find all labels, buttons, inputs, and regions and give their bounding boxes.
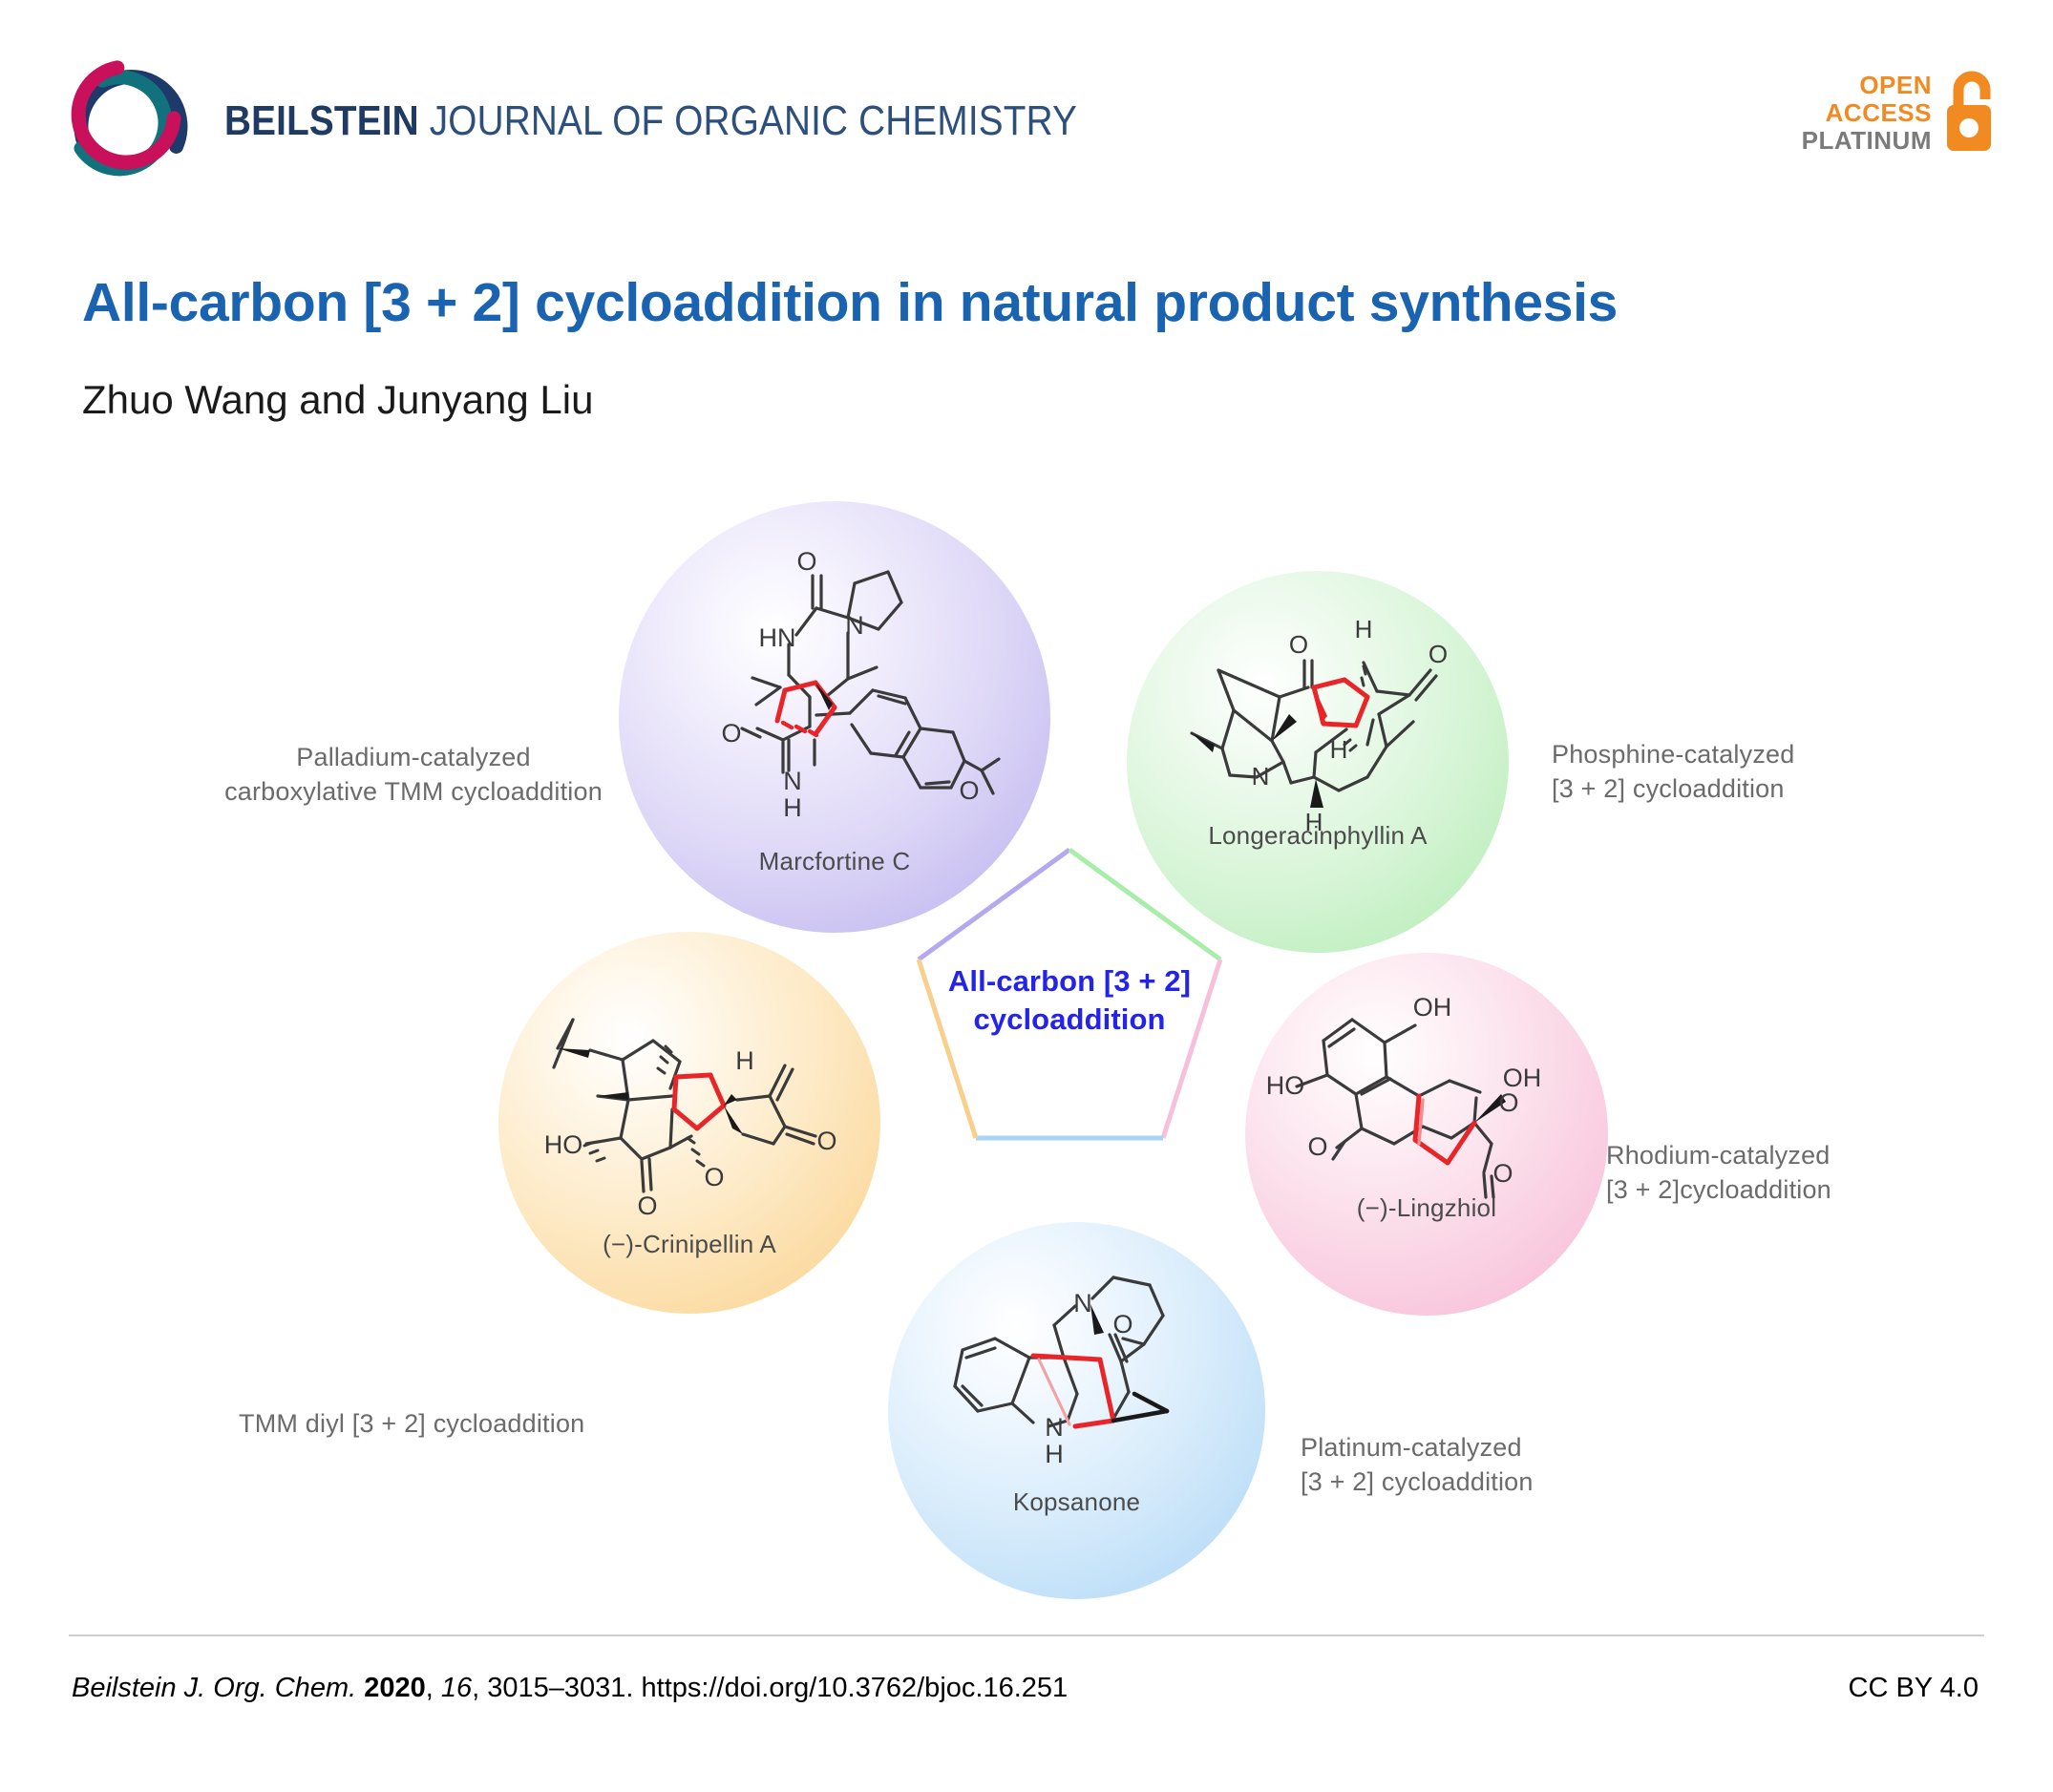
open-access-badge: OPEN ACCESS PLATINUM <box>1802 67 2000 159</box>
svg-text:H: H <box>1045 1440 1064 1468</box>
open-padlock-icon <box>1941 67 2000 159</box>
caption-platinum-line2: [3 + 2] cycloaddition <box>1301 1465 1616 1499</box>
bubble-label-crinipellin-a: (−)-Crinipellin A <box>498 1230 880 1259</box>
svg-text:O: O <box>1112 1310 1132 1339</box>
center-pentagon: All-carbon [3 + 2] cycloaddition <box>898 840 1241 1170</box>
svg-text:O: O <box>721 719 741 748</box>
caption-tmm-line1: TMM diyl [3 + 2] cycloaddition <box>239 1406 649 1441</box>
footer-doi[interactable]: https://doi.org/10.3762/bjoc.16.251 <box>642 1673 1069 1703</box>
caption-phosphine: Phosphine-catalyzed [3 + 2] cycloadditio… <box>1552 737 1867 806</box>
svg-text:O: O <box>1289 630 1308 659</box>
pentagon-label-line2: cycloaddition <box>898 1001 1241 1039</box>
footer-year: 2020 <box>364 1673 426 1703</box>
footer-sep-2: , <box>426 1673 441 1703</box>
svg-text:O: O <box>1492 1159 1513 1188</box>
authors: Zhuo Wang and Junyang Liu <box>82 377 593 423</box>
caption-rhodium-line2: [3 + 2]cycloaddition <box>1606 1172 1921 1207</box>
footer-journal-abbrev: Beilstein J. Org. Chem. <box>72 1673 356 1703</box>
caption-palladium: Palladium-catalyzed carboxylative TMM cy… <box>208 740 619 809</box>
footer-volume: 16 <box>441 1673 472 1703</box>
caption-platinum-line1: Platinum-catalyzed <box>1301 1430 1616 1465</box>
footer-citation: Beilstein J. Org. Chem. 2020, 16, 3015–3… <box>72 1673 1068 1704</box>
caption-palladium-line2: carboxylative TMM cycloaddition <box>208 774 619 809</box>
page-title: All-carbon [3 + 2] cycloaddition in natu… <box>82 271 1954 334</box>
journal-title: BEILSTEIN JOURNAL OF ORGANIC CHEMISTRY <box>224 97 1077 145</box>
svg-text:HO: HO <box>544 1130 583 1159</box>
open-access-line-access: ACCESS <box>1826 99 1932 127</box>
caption-platinum: Platinum-catalyzed [3 + 2] cycloaddition <box>1301 1430 1616 1499</box>
svg-text:O: O <box>704 1163 724 1191</box>
svg-text:O: O <box>637 1191 657 1220</box>
structure-lingzhiol: OH HO OH O O O <box>1245 953 1608 1316</box>
svg-text:HN: HN <box>759 623 796 652</box>
svg-text:N: N <box>845 611 864 640</box>
svg-text:O: O <box>1307 1132 1327 1161</box>
caption-rhodium: Rhodium-catalyzed [3 + 2]cycloaddition <box>1606 1138 1921 1207</box>
caption-rhodium-line1: Rhodium-catalyzed <box>1606 1138 1921 1172</box>
svg-text:O: O <box>796 547 816 576</box>
open-access-line-open: OPEN <box>1859 72 1932 99</box>
svg-text:H: H <box>1330 735 1348 764</box>
footer-sep-1 <box>356 1673 364 1703</box>
svg-text:H: H <box>783 793 802 822</box>
svg-text:HO: HO <box>1266 1071 1305 1100</box>
svg-text:N: N <box>783 767 802 795</box>
pentagon-label: All-carbon [3 + 2] cycloaddition <box>898 962 1241 1040</box>
caption-palladium-line1: Palladium-catalyzed <box>208 740 619 774</box>
svg-text:N: N <box>1073 1289 1092 1318</box>
pentagon-label-line1: All-carbon [3 + 2] <box>898 962 1241 1001</box>
footer-divider <box>69 1634 1984 1636</box>
svg-text:H: H <box>1355 615 1373 643</box>
svg-text:O: O <box>1429 640 1448 668</box>
footer-license: CC BY 4.0 <box>1849 1673 1979 1704</box>
svg-text:H: H <box>735 1046 754 1075</box>
footer-sep-3: , <box>472 1673 487 1703</box>
open-access-line-platinum: PLATINUM <box>1802 127 1932 155</box>
bubble-label-kopsanone: Kopsanone <box>888 1487 1265 1517</box>
bubble-crinipellin-a: H HO O O O (−)-Crinipellin A <box>498 932 880 1314</box>
svg-text:O: O <box>816 1127 836 1155</box>
bubble-lingzhiol: OH HO OH O O O (−)-Lingzhiol <box>1245 953 1608 1316</box>
footer-sep-4 <box>633 1673 641 1703</box>
open-access-words: OPEN ACCESS PLATINUM <box>1802 72 1932 155</box>
svg-text:N: N <box>1045 1413 1064 1442</box>
caption-phosphine-line1: Phosphine-catalyzed <box>1552 737 1867 771</box>
journal-title-rest: JOURNAL OF ORGANIC CHEMISTRY <box>419 97 1077 144</box>
page-header: BEILSTEIN JOURNAL OF ORGANIC CHEMISTRY O… <box>0 0 2053 191</box>
graphical-abstract: O HN N O N H O Marcfortine C <box>0 449 2053 1594</box>
svg-text:OH: OH <box>1413 993 1452 1022</box>
footer-pages: 3015–3031. <box>487 1673 633 1703</box>
beilstein-logo <box>59 54 201 188</box>
structure-kopsanone: N O N H <box>888 1222 1265 1599</box>
svg-text:N: N <box>1252 762 1270 791</box>
bubble-kopsanone: N O N H Kopsanone <box>888 1222 1265 1599</box>
journal-title-bold: BEILSTEIN <box>224 97 419 144</box>
svg-text:O: O <box>1498 1088 1518 1117</box>
caption-phosphine-line2: [3 + 2] cycloaddition <box>1552 771 1867 806</box>
caption-tmm: TMM diyl [3 + 2] cycloaddition <box>239 1406 649 1441</box>
svg-text:O: O <box>959 776 979 805</box>
bubble-label-lingzhiol: (−)-Lingzhiol <box>1245 1193 1608 1223</box>
